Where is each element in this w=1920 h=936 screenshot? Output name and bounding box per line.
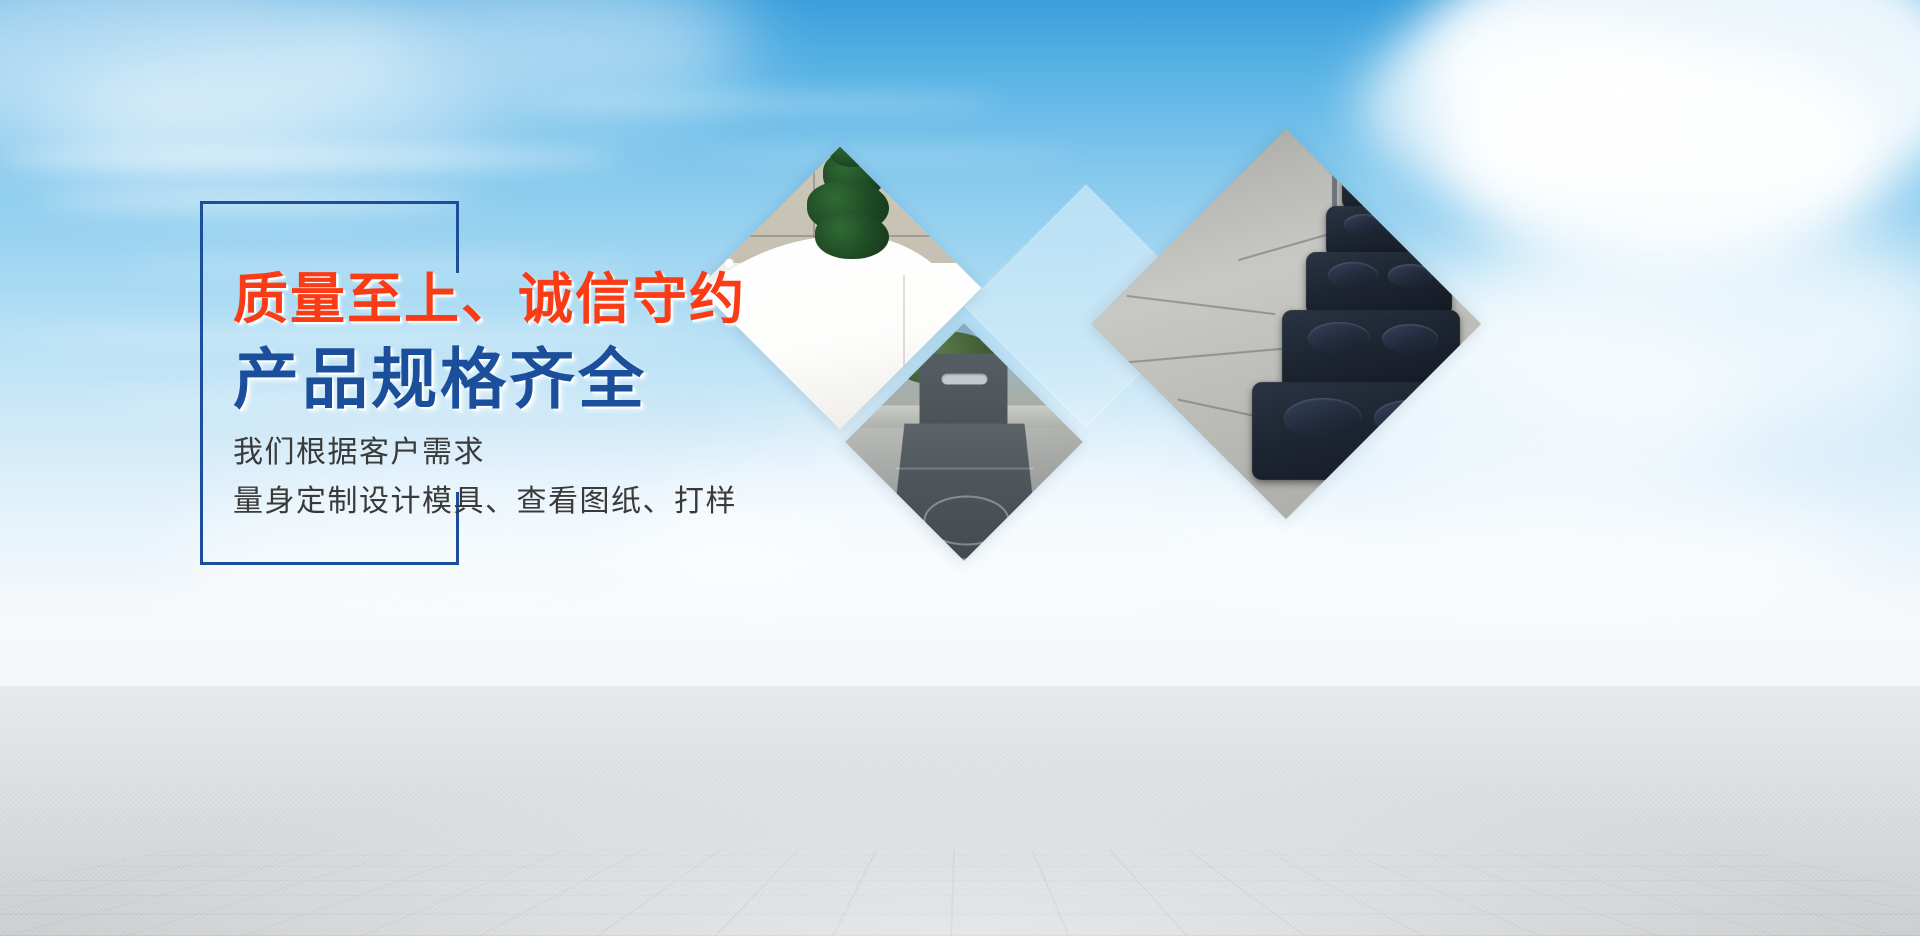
bin-back-panel <box>920 354 1008 432</box>
subtitle-line-2: 量身定制设计模具、查看图纸、打样 <box>233 476 737 520</box>
headline-secondary-blue: 产品规格齐全 <box>233 326 647 422</box>
hero-banner: 质量至上、诚信守约 产品规格齐全 我们根据客户需求 量身定制设计模具、查看图纸、… <box>0 0 1920 936</box>
bin-handle-slot <box>942 374 988 385</box>
headline-primary-red: 质量至上、诚信守约 <box>233 254 746 334</box>
ground-horizon-haze <box>0 566 1920 686</box>
subtitle-line-1: 我们根据客户需求 <box>233 427 485 471</box>
